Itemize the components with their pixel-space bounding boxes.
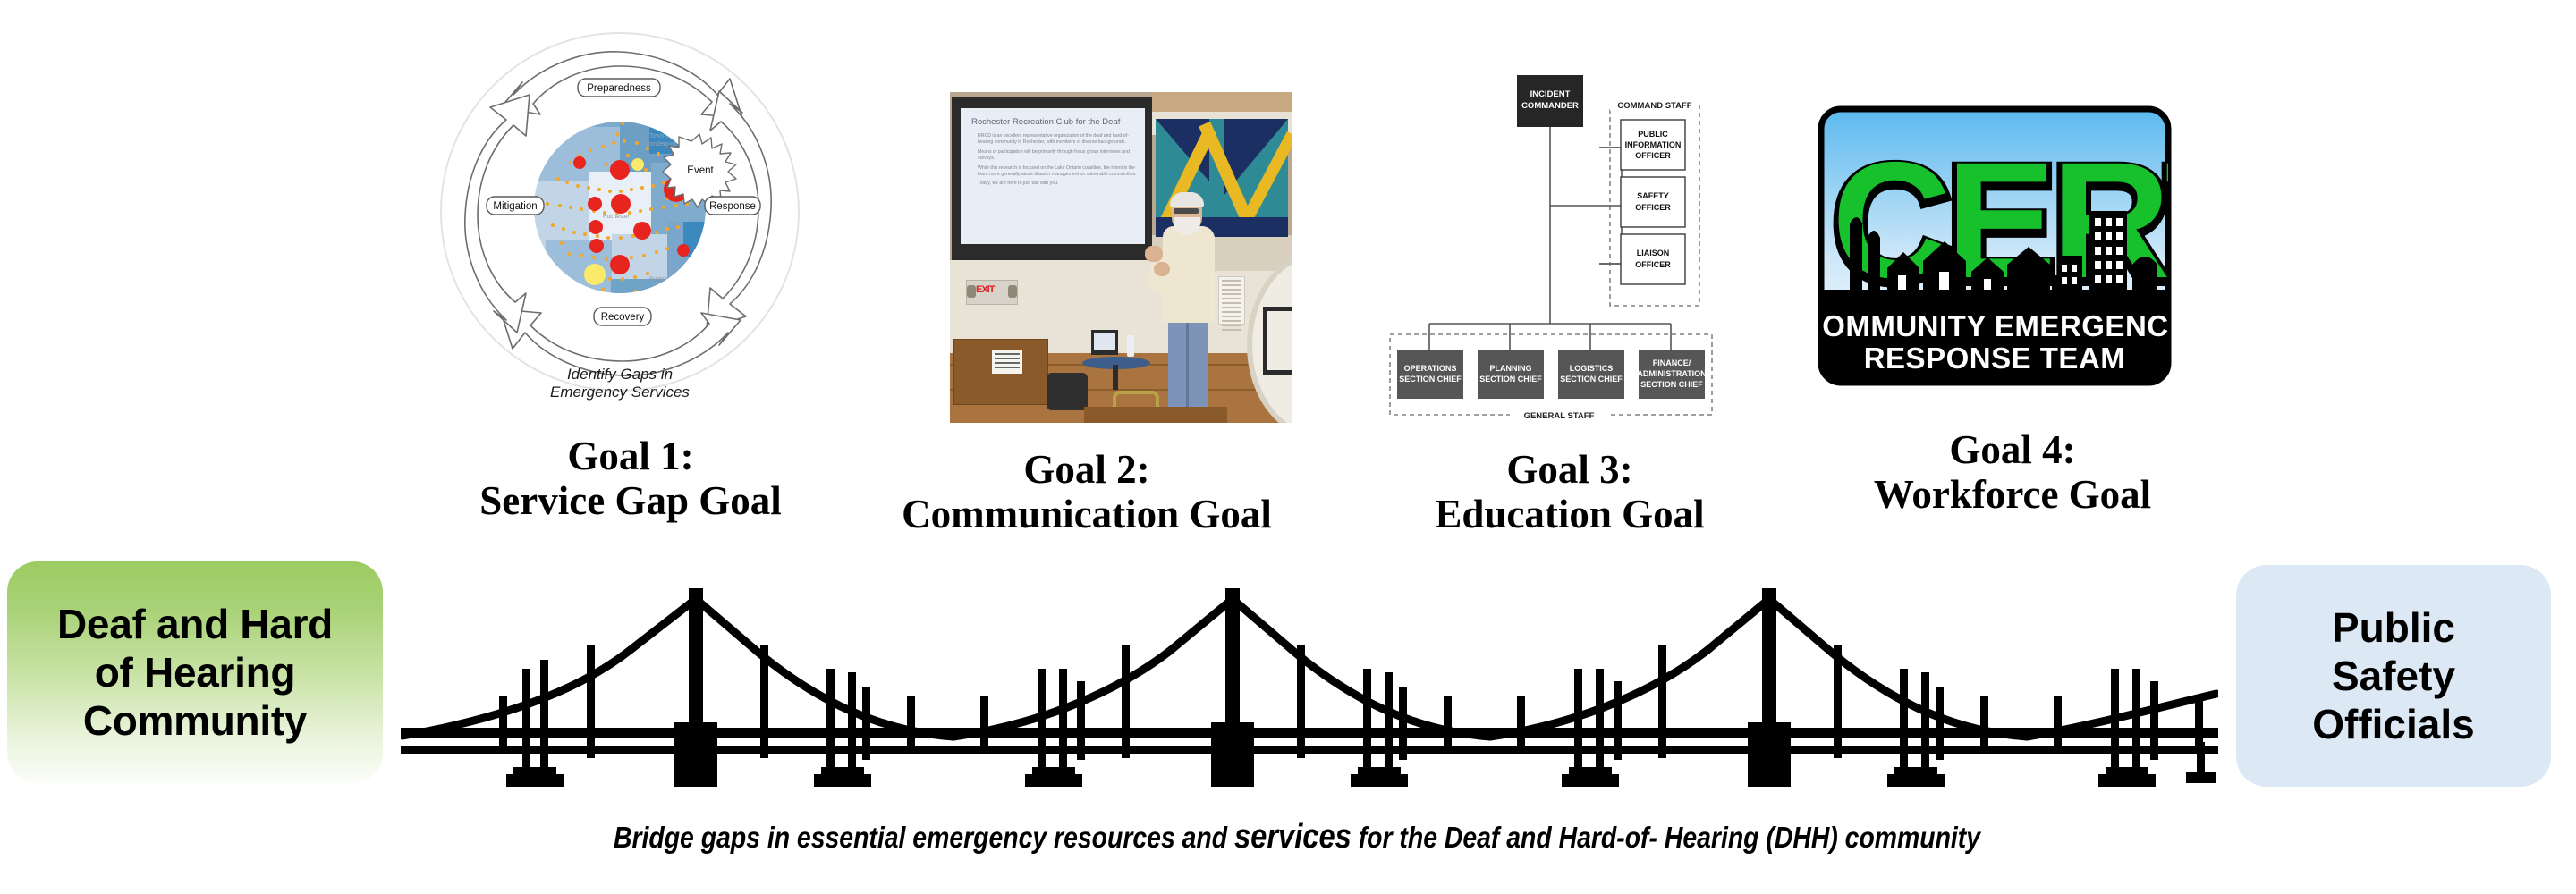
svg-text:OPERATIONS: OPERATIONS xyxy=(1404,364,1457,373)
svg-text:FINANCE/: FINANCE/ xyxy=(1653,358,1691,367)
event-label: Event xyxy=(687,165,714,176)
goal3-image-ics-org-chart[interactable]: COMMAND STAFF COMMAND STAFF GENERAL STAF… xyxy=(1385,20,1748,427)
goal-4-number: Goal 4: xyxy=(1825,427,2200,472)
slide-bullet: RRCD is an excellent representative orga… xyxy=(978,133,1138,147)
footer-caption: Bridge gaps in essential emergency resou… xyxy=(520,818,2073,856)
svg-text:COMMANDER: COMMANDER xyxy=(1521,101,1579,111)
slide-bullet: Means of participation will be primarily… xyxy=(978,149,1138,163)
goal4-image-cert-logo[interactable]: CERT CERT xyxy=(1818,105,2172,386)
exit-sign: EXIT xyxy=(966,280,1018,305)
svg-text:SECTION CHIEF: SECTION CHIEF xyxy=(1640,380,1703,389)
cert-subtitle-line-2: RESPONSE TEAM xyxy=(1864,342,2126,375)
goal2-image-presentation-photo[interactable]: Rochester Recreation Club for the Deaf R… xyxy=(950,92,1292,423)
svg-text:SECTION CHIEF: SECTION CHIEF xyxy=(1479,375,1542,384)
goal-1-title: Service Gap Goal xyxy=(429,478,832,523)
goal-3-caption: Goal 3: Education Goal xyxy=(1382,447,1758,537)
goal-1-number: Goal 1: xyxy=(429,434,832,478)
svg-text:OFFICER: OFFICER xyxy=(1635,260,1671,269)
phase-label-preparedness: Preparedness xyxy=(587,83,651,94)
photo-slide: Rochester Recreation Club for the Deaf R… xyxy=(961,108,1145,244)
goal-3-number: Goal 3: xyxy=(1382,447,1758,492)
footer-text-before: Bridge gaps in essential emergency resou… xyxy=(614,821,1234,854)
photo-presenter-hand xyxy=(1145,246,1163,262)
svg-text:OFFICER: OFFICER xyxy=(1635,151,1671,160)
svg-text:PUBLIC: PUBLIC xyxy=(1638,130,1668,139)
svg-text:SAFETY: SAFETY xyxy=(1637,191,1669,200)
svg-text:COMMAND STAFF: COMMAND STAFF xyxy=(1617,101,1691,111)
goal-3-title: Education Goal xyxy=(1382,492,1758,536)
svg-text:LOGISTICS: LOGISTICS xyxy=(1570,364,1614,373)
dhh-community-label: Deaf and Hard of Hearing Community xyxy=(57,600,333,746)
dhh-line-2: of Hearing xyxy=(57,648,333,696)
photo-laptop xyxy=(1091,330,1118,355)
goal-1-caption: Goal 1: Service Gap Goal xyxy=(429,434,832,524)
suspension-bridge-graphic xyxy=(401,563,2218,787)
pso-line-2: Safety xyxy=(2312,652,2475,700)
goal-2-caption: Goal 2: Communication Goal xyxy=(854,447,1319,537)
photo-cabinet xyxy=(953,339,1048,405)
slide-bullets: RRCD is an excellent representative orga… xyxy=(971,133,1138,190)
pso-line-1: Public xyxy=(2312,603,2475,652)
svg-text:ADMINISTRATION: ADMINISTRATION xyxy=(1637,369,1706,378)
general-staff-label: GENERAL STAFF xyxy=(1524,411,1595,421)
phase-label-mitigation: Mitigation xyxy=(493,201,537,212)
dhh-community-box[interactable]: Deaf and Hard of Hearing Community xyxy=(7,561,383,783)
poster-canvas: Deaf and Hard of Hearing Community Publi… xyxy=(0,0,2576,894)
svg-text:OFFICER: OFFICER xyxy=(1635,203,1671,212)
footer-text-emphasis: services xyxy=(1234,818,1352,856)
phase-label-recovery: Recovery xyxy=(601,312,645,323)
photo-presenter-hand-2 xyxy=(1154,262,1170,276)
svg-text:SECTION CHIEF: SECTION CHIEF xyxy=(1560,375,1623,384)
slide-bullet: Today, we are here to just talk with you… xyxy=(978,181,1138,187)
pso-line-3: Officials xyxy=(2312,700,2475,748)
photo-chair xyxy=(1046,373,1088,410)
cycle-caption-line-1: Identify Gaps in xyxy=(567,366,673,383)
public-safety-officials-box[interactable]: Public Safety Officials xyxy=(2236,565,2551,787)
dhh-line-3: Community xyxy=(57,696,333,745)
goal-4-title: Workforce Goal xyxy=(1825,472,2200,517)
goal-2-title: Communication Goal xyxy=(854,492,1319,536)
photo-projection-screen: Rochester Recreation Club for the Deaf R… xyxy=(952,97,1152,260)
public-safety-officials-label: Public Safety Officials xyxy=(2312,603,2475,749)
dhh-line-1: Deaf and Hard xyxy=(57,600,333,648)
photo-table-leg xyxy=(1113,365,1118,390)
photo-foreground-table xyxy=(1084,407,1227,423)
svg-text:PLANNING: PLANNING xyxy=(1490,364,1532,373)
svg-text:LIAISON: LIAISON xyxy=(1637,249,1670,257)
svg-text:Rochester: Rochester xyxy=(603,214,630,220)
photo-wall-poster xyxy=(1218,276,1245,325)
svg-text:SECTION CHIEF: SECTION CHIEF xyxy=(1399,375,1462,384)
goal-4-caption: Goal 4: Workforce Goal xyxy=(1825,427,2200,518)
svg-text:INFORMATION: INFORMATION xyxy=(1625,140,1682,149)
slide-bullet: While this research is focused on the La… xyxy=(978,165,1138,179)
svg-text:INCIDENT: INCIDENT xyxy=(1530,89,1571,99)
cycle-caption-line-2: Emergency Services xyxy=(550,384,690,401)
photo-bottle xyxy=(1127,335,1134,357)
footer-text-after: for the Deaf and Hard-of- Hearing (DHH) … xyxy=(1352,821,1980,854)
photo-presenter-hair xyxy=(1170,192,1204,207)
slide-title: Rochester Recreation Club for the Deaf xyxy=(971,117,1140,127)
exit-sign-label: EXIT xyxy=(976,284,994,295)
goal1-image-emergency-cycle[interactable]: Town of Irondequoit Rochester Brighton P… xyxy=(428,29,812,422)
photo-presenter-glasses xyxy=(1174,208,1199,214)
photo-presenter-jeans xyxy=(1168,316,1207,416)
goal-2-number: Goal 2: xyxy=(854,447,1319,492)
cert-subtitle-line-1: COMMUNITY EMERGENCY xyxy=(1818,309,2172,342)
phase-label-response: Response xyxy=(709,201,756,212)
